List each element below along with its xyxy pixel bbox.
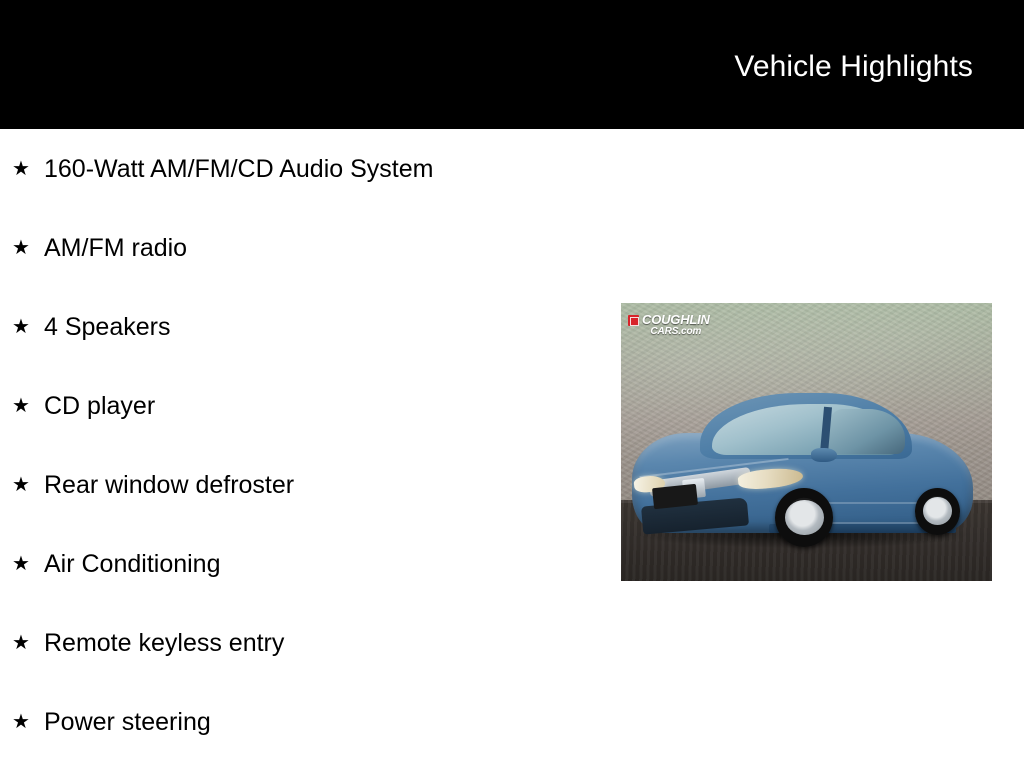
- star-icon: ★: [12, 316, 34, 338]
- highlight-label: Air Conditioning: [44, 549, 221, 579]
- highlight-label: Rear window defroster: [44, 470, 294, 500]
- dealer-brand-name: COUGHLIN: [642, 313, 710, 326]
- list-item: ★ 4 Speakers: [0, 287, 620, 366]
- highlight-label: AM/FM radio: [44, 233, 187, 263]
- car-front-wheel: [775, 488, 833, 547]
- highlight-label: Remote keyless entry: [44, 628, 284, 658]
- star-icon: ★: [12, 632, 34, 654]
- dealer-logo-icon: [628, 315, 639, 326]
- star-icon: ★: [12, 553, 34, 575]
- list-item: ★ CD player: [0, 366, 620, 445]
- car-side-mirror: [811, 448, 837, 462]
- vehicle-photo: COUGHLIN CARS.com: [621, 303, 992, 581]
- list-item: ★ AM/FM radio: [0, 208, 620, 287]
- star-icon: ★: [12, 158, 34, 180]
- list-item: ★ Air Conditioning: [0, 524, 620, 603]
- vehicle-highlights-list: ★ 160-Watt AM/FM/CD Audio System ★ AM/FM…: [0, 129, 620, 761]
- star-icon: ★: [12, 474, 34, 496]
- list-item: ★ Rear window defroster: [0, 445, 620, 524]
- highlight-label: 160-Watt AM/FM/CD Audio System: [44, 154, 433, 184]
- highlight-label: Power steering: [44, 707, 211, 737]
- star-icon: ★: [12, 711, 34, 733]
- dealer-watermark: COUGHLIN CARS.com: [628, 313, 710, 337]
- star-icon: ★: [12, 395, 34, 417]
- list-item: ★ Power steering: [0, 682, 620, 761]
- list-item: ★ Remote keyless entry: [0, 603, 620, 682]
- header-bar: Vehicle Highlights: [0, 0, 1024, 129]
- dealer-domain: CARS.com: [642, 327, 710, 337]
- dealer-watermark-text: COUGHLIN CARS.com: [642, 313, 710, 337]
- page-title: Vehicle Highlights: [734, 49, 973, 85]
- highlight-label: 4 Speakers: [44, 312, 170, 342]
- star-icon: ★: [12, 237, 34, 259]
- car-rear-wheel: [915, 488, 959, 535]
- list-item: ★ 160-Watt AM/FM/CD Audio System: [0, 129, 620, 208]
- highlight-label: CD player: [44, 391, 155, 421]
- car-illustration: [632, 373, 973, 545]
